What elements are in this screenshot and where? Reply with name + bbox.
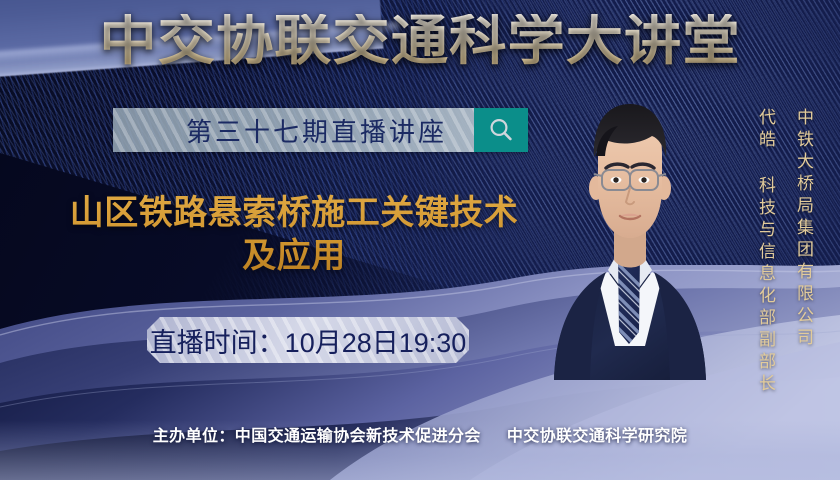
episode-banner: 第三十七期直播讲座 <box>113 108 528 152</box>
search-button[interactable] <box>474 108 528 152</box>
footer-organizers: 主办单位：中国交通运输协会新技术促进分会中交协联交通科学研究院 <box>0 422 840 446</box>
broadcast-time-badge: 直播时间：10月28日19:30 <box>147 317 469 363</box>
footer-org-2: 中交协联交通科学研究院 <box>507 428 687 445</box>
speaker-portrait <box>540 96 720 380</box>
lecture-title-line1: 山区铁路悬索桥施工关键技术 <box>70 194 519 232</box>
lecture-title: 山区铁路悬索桥施工关键技术 及应用 <box>34 192 554 278</box>
footer-prefix: 主办单位： <box>153 428 235 445</box>
event-poster: 中交协联交通科学大讲堂 第三十七期直播讲座 山区铁路悬索桥施工关键技术 及应用 … <box>0 0 840 480</box>
page-title: 中交协联交通科学大讲堂 <box>0 14 840 68</box>
speaker-organization: 中铁大桥局集团有限公司 <box>795 108 812 350</box>
lecture-title-line2: 及应用 <box>34 235 554 278</box>
search-icon <box>486 115 516 145</box>
broadcast-time-text: 直播时间：10月28日19:30 <box>150 321 467 360</box>
episode-label: 第三十七期直播讲座 <box>113 108 474 152</box>
speaker-name-role: 代皓 科技与信息化部副部长 <box>757 108 774 396</box>
footer-org-1: 中国交通运输协会新技术促进分会 <box>235 428 481 445</box>
